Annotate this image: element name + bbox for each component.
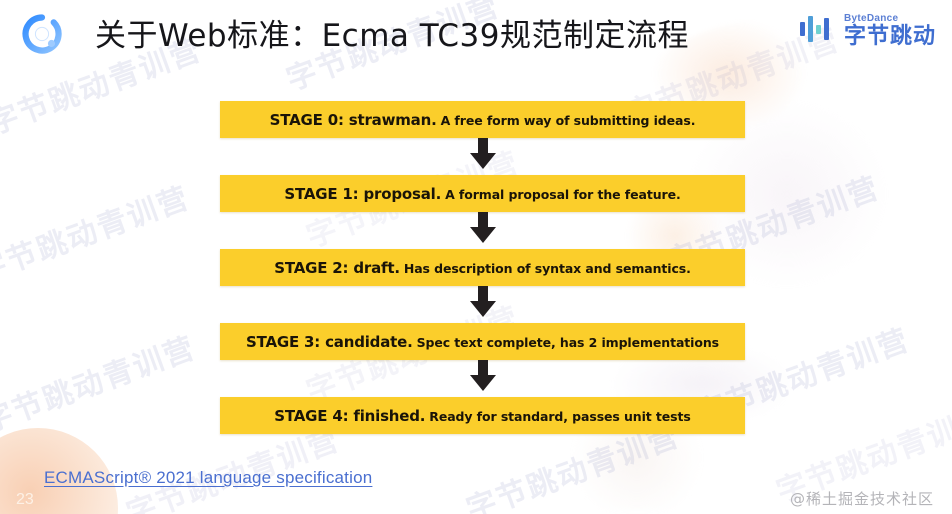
stage-desc-0: A free form way of submitting ideas. [441,113,696,128]
stage-head-1: STAGE 1: proposal. [284,185,441,203]
stage-box-3: STAGE 3: candidate.Spec text complete, h… [220,323,745,360]
stage-text-1: STAGE 1: proposal.A formal proposal for … [284,184,680,203]
flow-arrow-1 [220,212,745,249]
tc39-stage-flow: STAGE 0: strawman.A free form way of sub… [220,101,745,434]
watermark-text: 字节跳动青训营 [0,323,201,441]
stage-desc-3: Spec text complete, has 2 implementation… [417,335,719,350]
arrow-down-icon [468,286,498,323]
slide-header: 关于Web标准：Ecma TC39规范制定流程 ByteDance 字节跳动 [0,0,952,68]
page-title: 关于Web标准：Ecma TC39规范制定流程 [95,10,689,55]
flow-arrow-2 [220,286,745,323]
slide-canvas: 字节跳动青训营 字节跳动青训营 字节跳动青训营 字节跳动青训营 字节跳动青训营 … [0,0,952,514]
juejin-logo-icon [22,14,62,54]
arrow-down-icon [468,138,498,175]
flow-arrow-3 [220,360,745,397]
ecmascript-spec-link[interactable]: ECMAScript® 2021 language specification [44,468,372,488]
stage-head-3: STAGE 3: candidate. [246,333,413,351]
corner-watermark: @稀土掘金技术社区 [790,488,934,509]
watermark-text: 字节跳动青训营 [0,173,195,291]
stage-box-2: STAGE 2: draft.Has description of syntax… [220,249,745,286]
bytedance-bars-icon [800,16,836,47]
stage-desc-4: Ready for standard, passes unit tests [429,409,690,424]
stage-desc-1: A formal proposal for the feature. [445,187,681,202]
stage-head-4: STAGE 4: finished. [274,407,425,425]
stage-text-3: STAGE 3: candidate.Spec text complete, h… [246,332,719,351]
stage-text-4: STAGE 4: finished.Ready for standard, pa… [274,406,690,425]
stage-head-0: STAGE 0: strawman. [270,111,437,129]
bytedance-wordmark: ByteDance 字节跳动 [844,14,936,48]
stage-text-0: STAGE 0: strawman.A free form way of sub… [270,110,696,129]
arrow-down-icon [468,360,498,397]
stage-text-2: STAGE 2: draft.Has description of syntax… [274,258,691,277]
bytedance-english-name: ByteDance [844,14,936,24]
stage-desc-2: Has description of syntax and semantics. [404,261,691,276]
arrow-down-icon [468,212,498,249]
stage-box-4: STAGE 4: finished.Ready for standard, pa… [220,397,745,434]
page-number: 23 [16,491,34,509]
stage-box-0: STAGE 0: strawman.A free form way of sub… [220,101,745,138]
stage-head-2: STAGE 2: draft. [274,259,400,277]
flow-arrow-0 [220,138,745,175]
stage-box-1: STAGE 1: proposal.A formal proposal for … [220,175,745,212]
bytedance-logo: ByteDance 字节跳动 [800,14,936,48]
bytedance-chinese-name: 字节跳动 [844,26,936,48]
